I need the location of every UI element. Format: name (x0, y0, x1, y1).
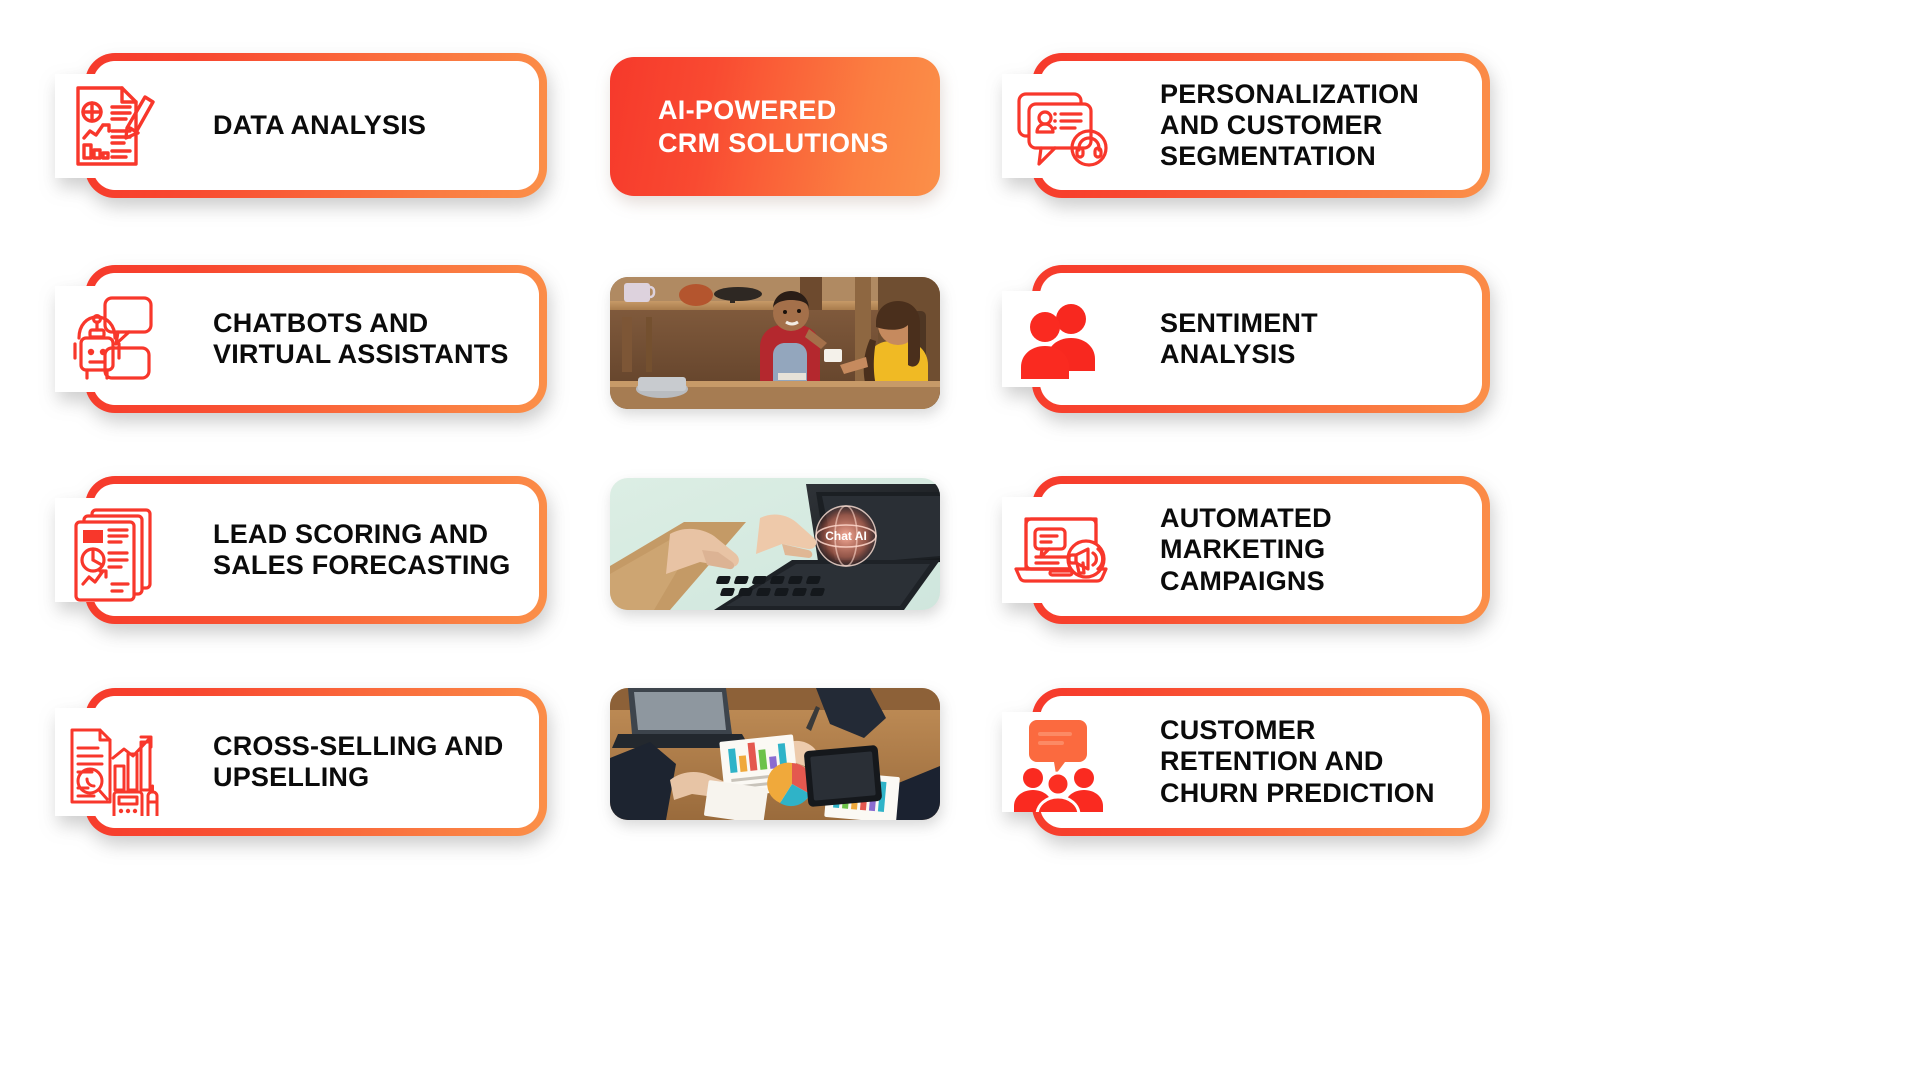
card-title: PERSONALIZATION AND CUSTOMER SEGMENTATIO… (1160, 79, 1419, 173)
card-personalization-customer-segmentation[interactable]: PERSONALIZATION AND CUSTOMER SEGMENTATIO… (1032, 53, 1490, 198)
two-people-filled-icon (1002, 291, 1120, 387)
card-body: AUTOMATED MARKETING CAMPAIGNS (1040, 484, 1482, 616)
hero-title: AI-POWERED CRM SOLUTIONS (658, 94, 888, 160)
card-body: PERSONALIZATION AND CUSTOMER SEGMENTATIO… (1040, 61, 1482, 190)
report-pie-chart-stack-icon (55, 498, 173, 602)
hero-card-ai-powered-crm-solutions[interactable]: AI-POWERED CRM SOLUTIONS (610, 57, 940, 196)
business-team-charts-meeting-photo (610, 688, 940, 820)
card-body: SENTIMENT ANALYSIS (1040, 273, 1482, 405)
card-data-analysis[interactable]: DATA ANALYSIS (85, 53, 547, 198)
infographic-canvas: DATA ANALYSIS (0, 0, 1920, 1080)
speech-bubble-group-filled-icon (1002, 712, 1120, 812)
card-customer-retention-churn-prediction[interactable]: CUSTOMER RETENTION AND CHURN PREDICTION (1032, 688, 1490, 836)
document-magnifier-bar-chart-calculator-icon (55, 708, 173, 816)
card-title: AUTOMATED MARKETING CAMPAIGNS (1160, 503, 1332, 597)
chat-cards-headset-icon (1002, 74, 1120, 178)
card-body: CHATBOTS AND VIRTUAL ASSISTANTS (93, 273, 539, 405)
card-title: CHATBOTS AND VIRTUAL ASSISTANTS (213, 308, 509, 371)
card-lead-scoring-sales-forecasting[interactable]: LEAD SCORING AND SALES FORECASTING (85, 476, 547, 624)
laptop-megaphone-message-icon (1002, 497, 1120, 603)
card-body: CROSS-SELLING AND UPSELLING (93, 696, 539, 828)
card-body: DATA ANALYSIS (93, 61, 539, 190)
card-chatbots-virtual-assistants[interactable]: CHATBOTS AND VIRTUAL ASSISTANTS (85, 265, 547, 413)
barista-serving-customer-photo (610, 277, 940, 409)
card-automated-marketing-campaigns[interactable]: AUTOMATED MARKETING CAMPAIGNS (1032, 476, 1490, 624)
card-cross-selling-upselling[interactable]: CROSS-SELLING AND UPSELLING (85, 688, 547, 836)
card-title: SENTIMENT ANALYSIS (1160, 308, 1318, 371)
robot-chat-bubbles-icon (55, 286, 173, 392)
card-title: LEAD SCORING AND SALES FORECASTING (213, 519, 510, 582)
card-body: CUSTOMER RETENTION AND CHURN PREDICTION (1040, 696, 1482, 828)
chat-ai-overlay-label: Chat AI (825, 529, 867, 543)
hands-typing-laptop-chat-ai-photo: Chat AI (610, 478, 940, 610)
card-title: DATA ANALYSIS (213, 110, 426, 141)
document-chart-pen-icon (55, 74, 173, 178)
card-title: CUSTOMER RETENTION AND CHURN PREDICTION (1160, 715, 1435, 809)
card-sentiment-analysis[interactable]: SENTIMENT ANALYSIS (1032, 265, 1490, 413)
card-body: LEAD SCORING AND SALES FORECASTING (93, 484, 539, 616)
card-title: CROSS-SELLING AND UPSELLING (213, 731, 503, 794)
